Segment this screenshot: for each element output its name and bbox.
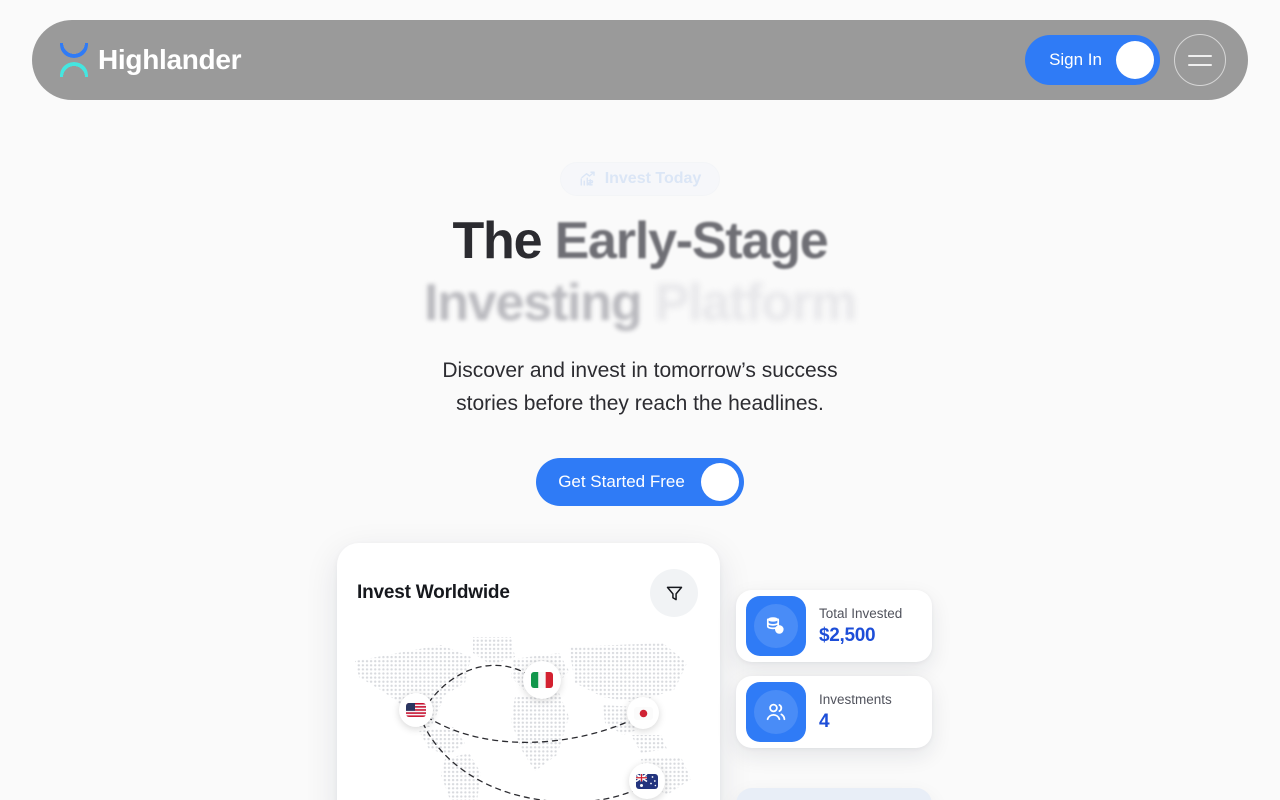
stat-value: $2,500 <box>819 624 902 648</box>
brand-name: Highlander <box>98 44 241 76</box>
stat-value: 4 <box>819 710 892 734</box>
map-card-title: Invest Worldwide <box>357 582 510 604</box>
stat-label: Total Invested <box>819 605 902 622</box>
get-started-label: Get Started Free <box>558 472 685 492</box>
flag-united-states-icon <box>406 703 426 717</box>
sign-in-knob-icon <box>1116 41 1154 79</box>
site-header: Highlander Sign In <box>32 20 1248 100</box>
filter-funnel-icon[interactable] <box>650 569 698 617</box>
hero-subtitle-line-2: stories before they reach the headlines. <box>0 387 1280 420</box>
stat-card-investments: Investments 4 <box>736 676 932 748</box>
map-marker-japan[interactable] <box>627 697 659 729</box>
flag-australia-icon <box>636 774 658 789</box>
chart-dollar-icon <box>579 170 597 188</box>
flag-italy-icon <box>531 672 553 688</box>
headline-word-3: Investing <box>424 274 641 332</box>
headline-word-1: The <box>452 212 541 270</box>
sign-in-label: Sign In <box>1049 50 1102 70</box>
map-marker-united-states[interactable] <box>399 693 433 727</box>
get-started-knob-icon <box>701 463 739 501</box>
page-root: Highlander Sign In Invest Today <box>0 0 1280 800</box>
invest-today-badge: Invest Today <box>560 162 721 196</box>
hero-subtitle: Discover and invest in tomorrow’s succes… <box>0 354 1280 420</box>
stat-card-total-invested: Total Invested $2,500 <box>736 590 932 662</box>
invest-worldwide-card: Invest Worldwide <box>337 543 720 800</box>
stat-card-peek <box>736 788 932 800</box>
page-title: The Early-Stage Investing Platform <box>0 210 1280 334</box>
flag-japan-icon <box>634 707 653 720</box>
coins-stack-icon <box>746 596 806 656</box>
users-icon <box>746 682 806 742</box>
hero-section: Invest Today The Early-Stage Investing P… <box>0 100 1280 506</box>
highlander-logo-icon <box>60 43 88 77</box>
sign-in-button[interactable]: Sign In <box>1025 35 1160 85</box>
stat-card-text: Investments 4 <box>819 691 892 734</box>
get-started-free-button[interactable]: Get Started Free <box>536 458 744 506</box>
stat-card-text: Total Invested $2,500 <box>819 605 902 648</box>
headline-word-2: Early-Stage <box>555 212 828 270</box>
headline-word-4: Platform <box>655 274 856 332</box>
brand-logo[interactable]: Highlander <box>60 43 241 77</box>
hero-subtitle-line-1: Discover and invest in tomorrow’s succes… <box>0 354 1280 387</box>
invest-today-label: Invest Today <box>605 170 702 188</box>
world-map <box>337 631 720 800</box>
hamburger-menu-icon[interactable] <box>1174 34 1226 86</box>
map-card-header: Invest Worldwide <box>337 543 720 617</box>
map-marker-australia[interactable] <box>629 763 665 799</box>
map-marker-italy[interactable] <box>523 661 561 699</box>
stat-label: Investments <box>819 691 892 708</box>
header-actions: Sign In <box>1025 34 1226 86</box>
